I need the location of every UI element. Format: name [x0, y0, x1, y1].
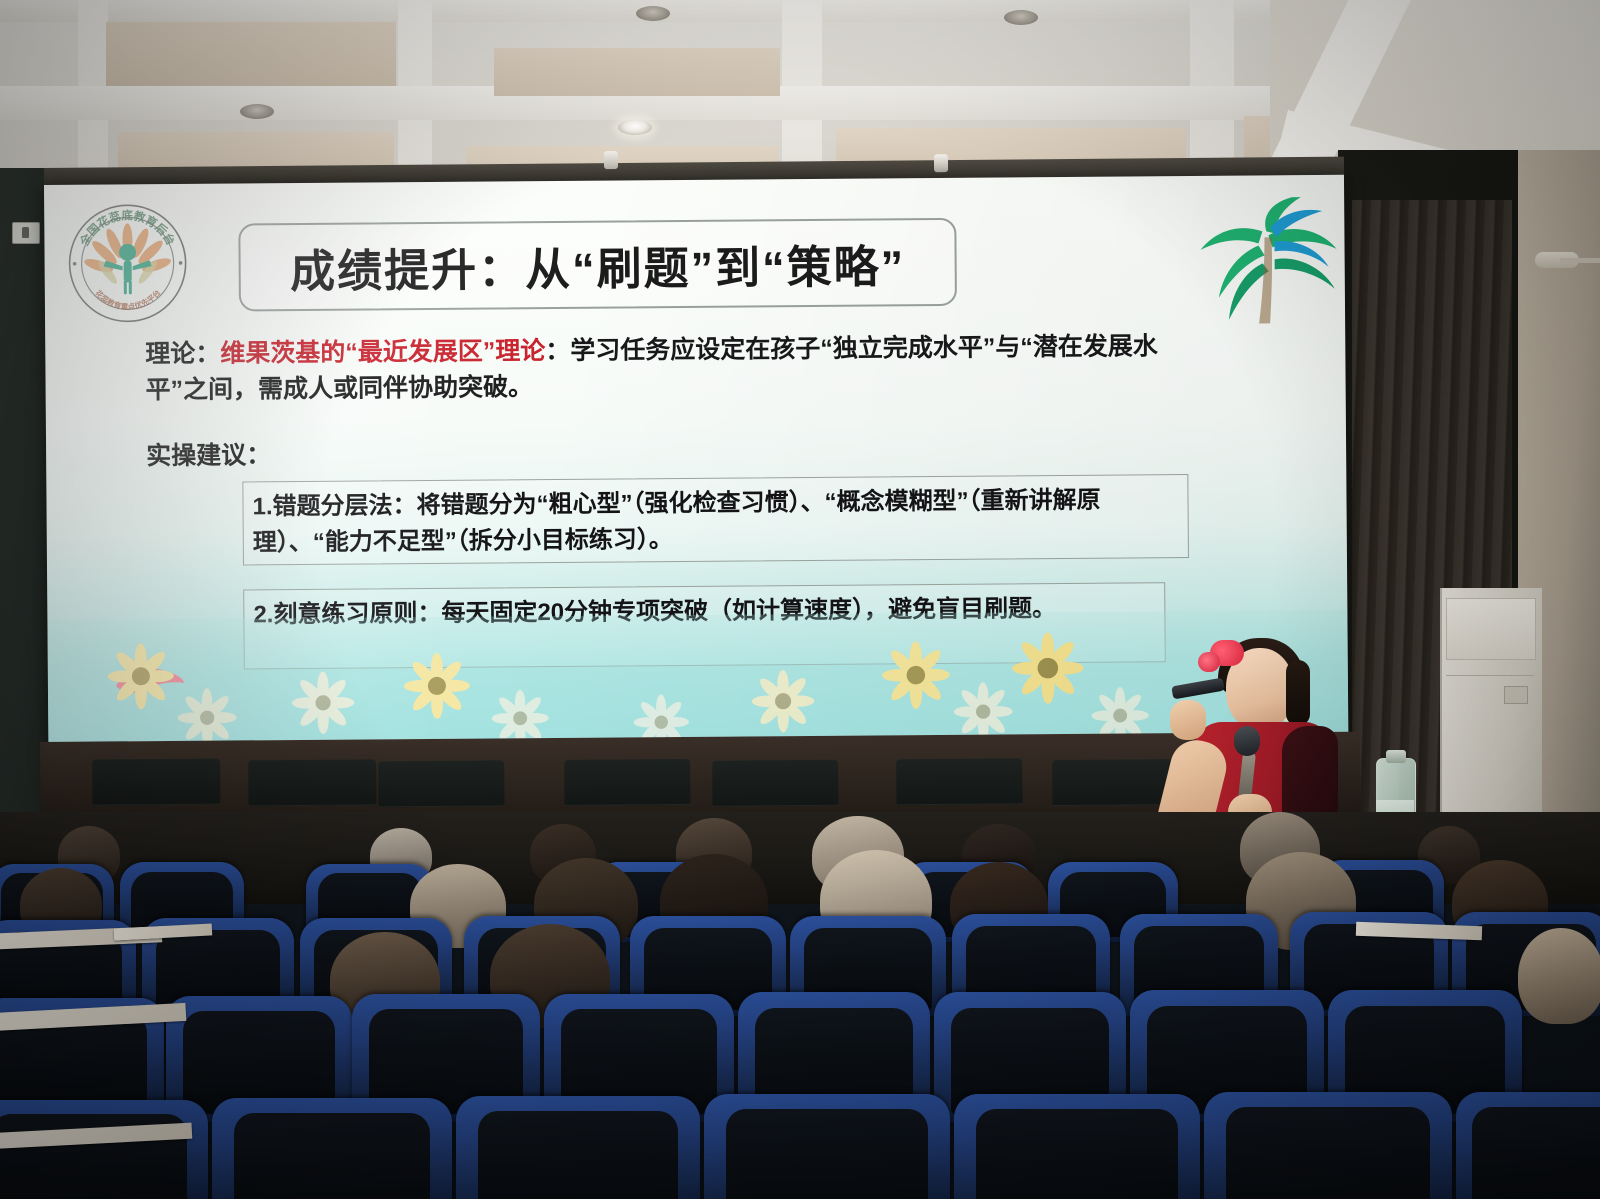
ac-seam [1446, 675, 1534, 676]
water-bottle-cap [1386, 750, 1406, 763]
ceiling-pipe [1560, 258, 1600, 263]
suggestions-label: 实操建议： [146, 435, 271, 472]
page-title: 成绩提升：从“刷题”到“策略” [290, 230, 906, 300]
sunflower-icon [748, 666, 819, 737]
ceiling-downlight [618, 120, 652, 135]
presenter-hand [1170, 700, 1206, 740]
seat[interactable] [212, 1098, 452, 1199]
theory-paragraph: 理论：维果茨基的“最近发展区”理论：学习任务应设定在孩子“独立完成水平”与“潜在… [145, 328, 1216, 409]
svg-text:花蕊教育重点优先平台: 花蕊教育重点优先平台 [93, 287, 162, 312]
seat[interactable] [456, 1096, 700, 1199]
slide-title-box: 成绩提升：从“刷题”到“策略” [238, 218, 957, 312]
theory-highlight: 维果茨基的“最近发展区”理论 [220, 337, 545, 368]
audience-area [0, 812, 1600, 1199]
presentation-clicker-icon[interactable] [1171, 678, 1224, 700]
suggestion-1-number: 1. [252, 493, 272, 520]
ac-grille [1446, 598, 1536, 660]
sunflower-icon [878, 637, 955, 714]
audience-head [1518, 928, 1600, 1024]
ceiling-downlight [636, 6, 670, 21]
ceiling-panel [106, 22, 396, 86]
seat[interactable] [1204, 1092, 1452, 1199]
ceiling-panel [494, 48, 780, 96]
suggestion-text-1: 1.错题分层法：将错题分为“粗心型”（强化检查习惯）、“概念模糊型”（重新讲解原… [252, 482, 1179, 561]
sunflower-icon [400, 649, 475, 724]
ceiling-downlight [240, 104, 274, 119]
seat[interactable] [0, 1100, 208, 1199]
theory-label: 理论： [145, 340, 220, 369]
hair-bow-icon [1198, 652, 1220, 672]
sunflower-icon [288, 668, 359, 739]
sunflower-icon [1008, 628, 1089, 709]
ac-control-label [1504, 686, 1528, 704]
suggestion-1-heading: 错题分层法： [272, 492, 416, 520]
wall-switch-plate[interactable] [12, 222, 40, 244]
ceiling-downlight [1004, 10, 1038, 25]
sunflower-icon [104, 639, 179, 714]
seat[interactable] [704, 1094, 950, 1199]
presenter-hair-side [1286, 660, 1310, 726]
microphone-icon[interactable] [1234, 726, 1260, 756]
seat[interactable] [1456, 1092, 1600, 1199]
palm-tree-icon [1170, 197, 1349, 328]
family-education-platform-logo: 全国花蕊底教育后台 花蕊教育重点优先平台 [66, 202, 189, 325]
seat[interactable] [954, 1094, 1200, 1199]
auditorium-photo: 全国花蕊底教育后台 花蕊教育重点优先平台 [0, 0, 1600, 1199]
